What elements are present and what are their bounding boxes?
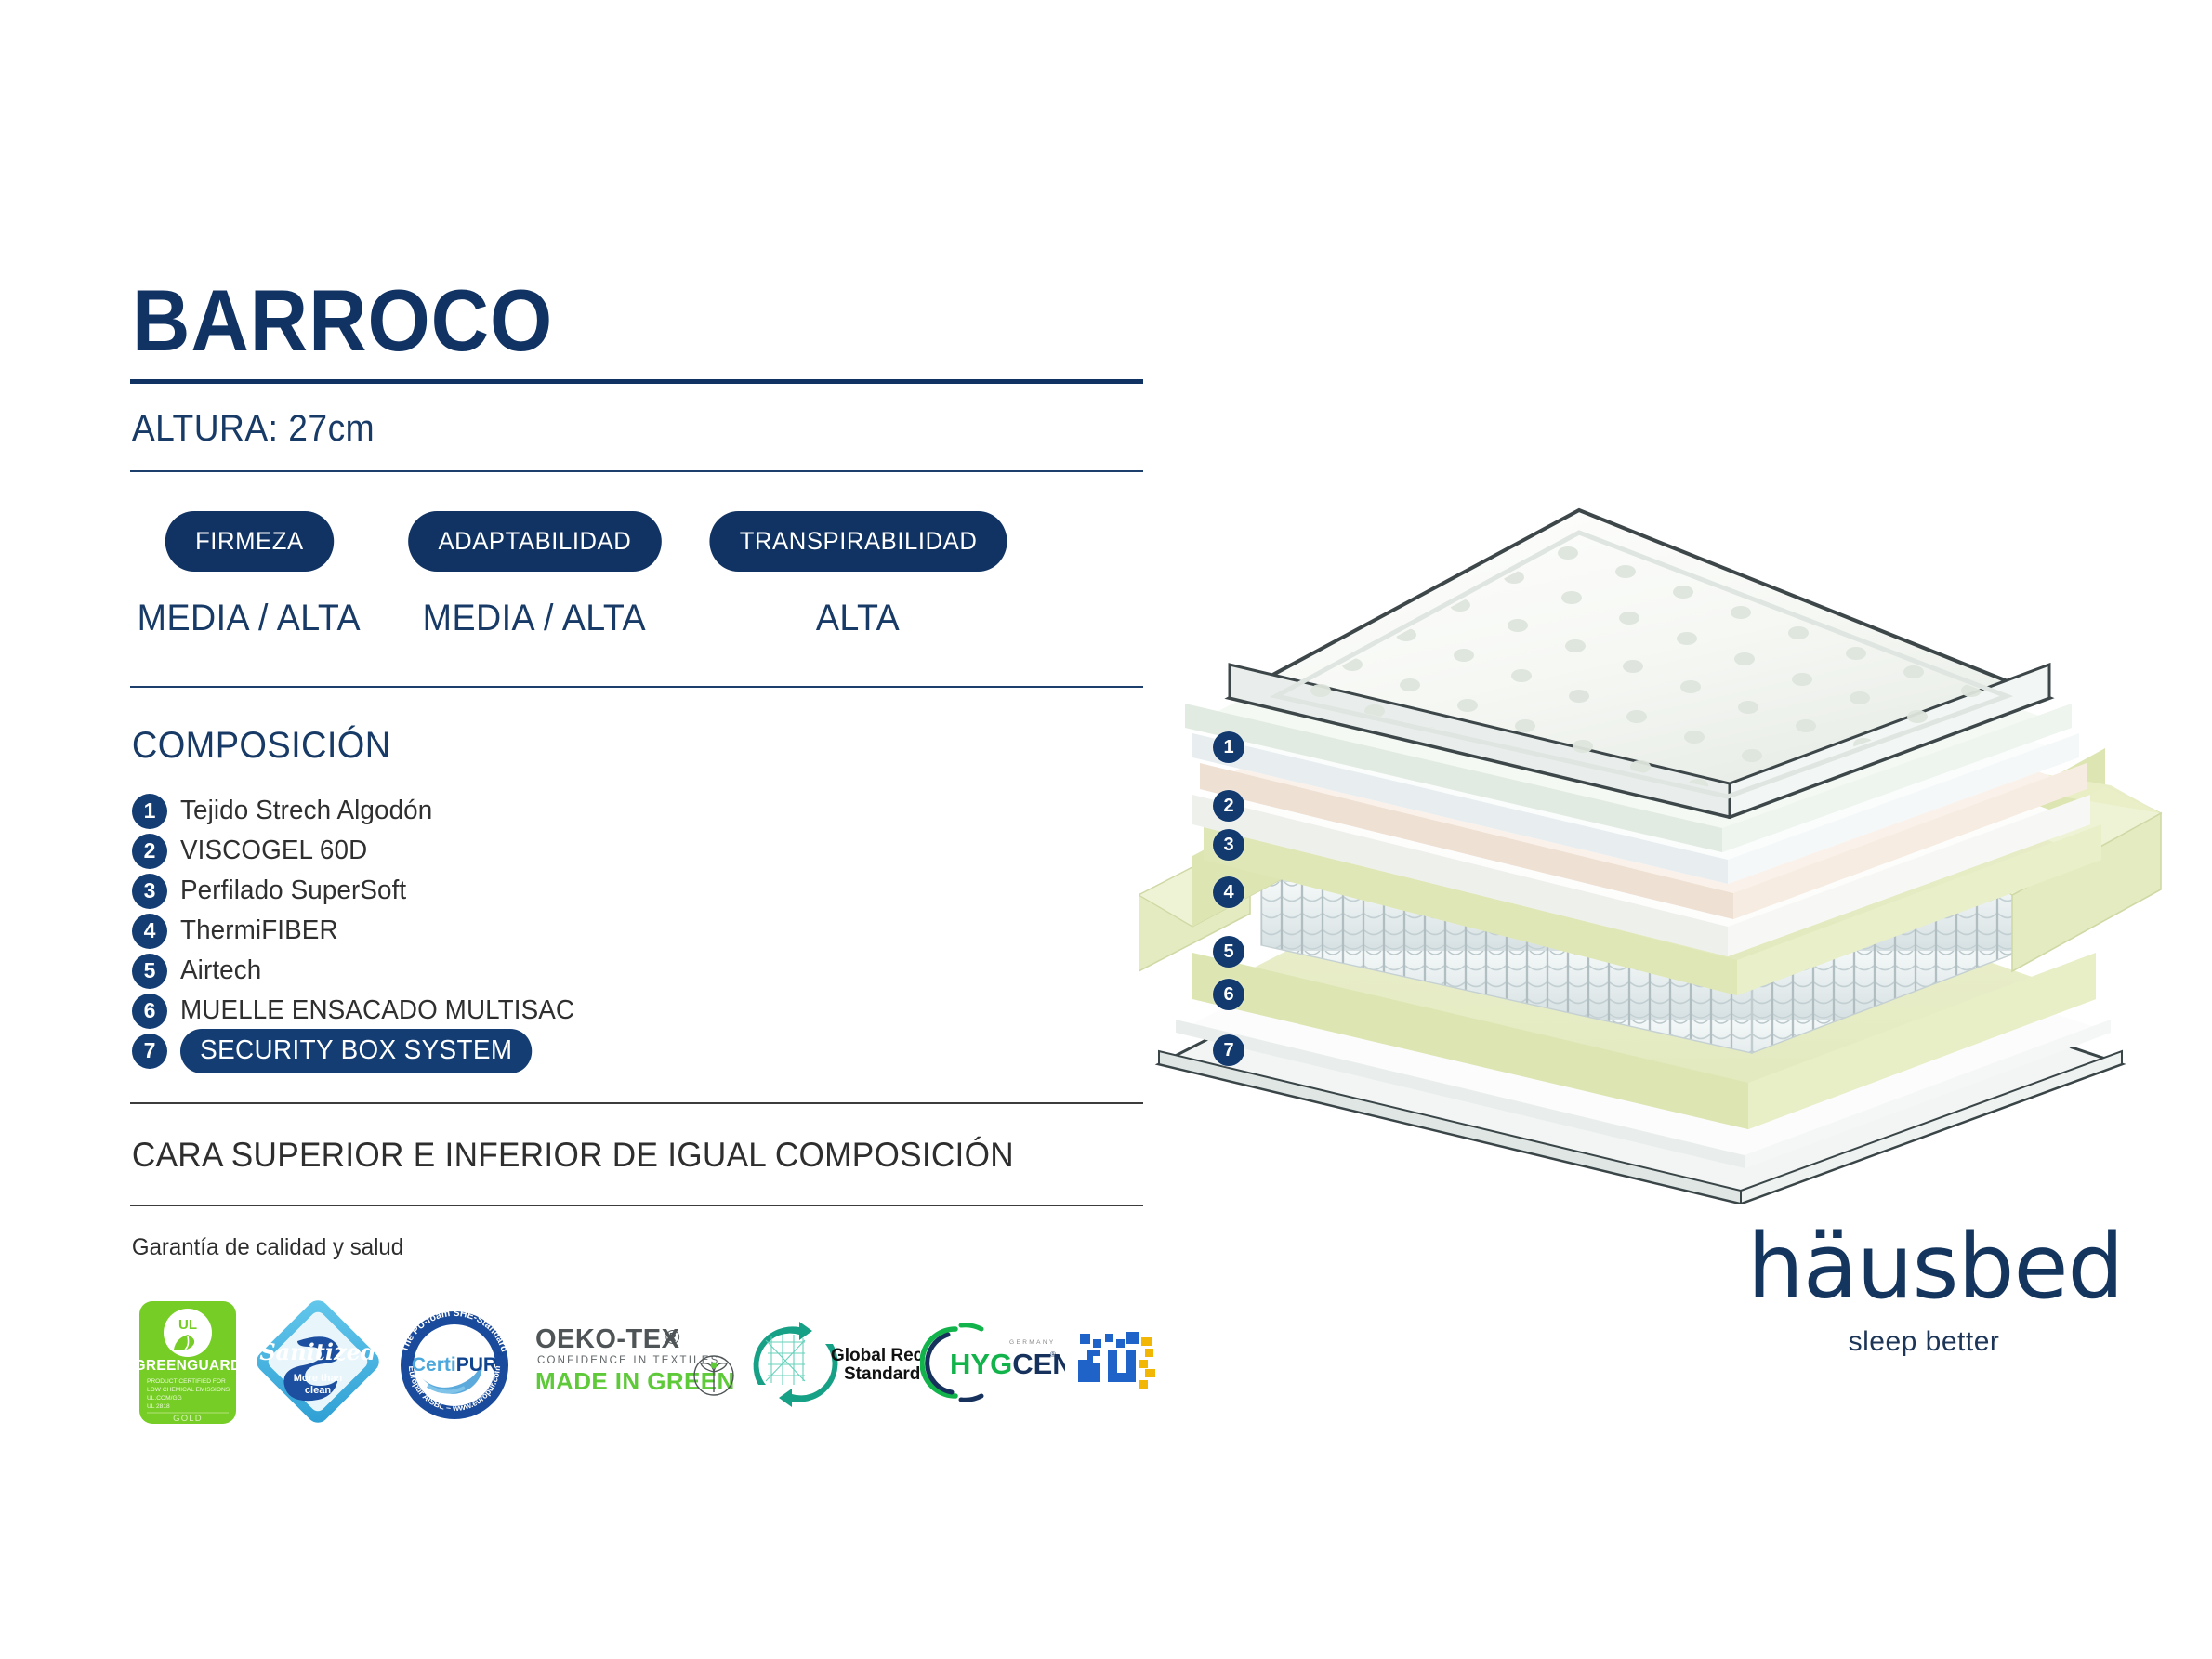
layer-label: VISCOGEL 60D: [180, 836, 367, 866]
layer-label: ThermiFIBER: [180, 915, 338, 946]
list-item: 1 Tejido Strech Algodón: [132, 791, 1143, 831]
svg-text:clean: clean: [305, 1385, 331, 1396]
list-item: 2 VISCOGEL 60D: [132, 831, 1143, 871]
callout-1: 1: [1213, 731, 1244, 763]
spec-left-column: BARROCO ALTURA: 27cm FIRMEZA MEDIA / ALT…: [130, 279, 1143, 1432]
svg-text:PRODUCT CERTIFIED FOR: PRODUCT CERTIFIED FOR: [147, 1378, 226, 1385]
layer-label: Perfilado SuperSoft: [180, 876, 406, 906]
product-height: ALTURA: 27cm: [130, 384, 1073, 470]
svg-text:Global Recycled: Global Recycled: [831, 1346, 920, 1365]
svg-text:UL: UL: [178, 1317, 197, 1333]
layer-number-badge: 1: [132, 794, 167, 829]
exploded-mattress-diagram: 1 2 3 4 5 6 7: [1139, 469, 2170, 1204]
svg-text:®: ®: [1050, 1350, 1056, 1359]
layer-label: Airtech: [180, 955, 261, 986]
svg-text:™: ™: [496, 1351, 504, 1360]
svg-text:®: ®: [665, 1327, 680, 1349]
layer-number-badge: 5: [132, 954, 167, 989]
global-recycled-standard-icon: Global Recycled Standard: [738, 1307, 920, 1418]
callout-5: 5: [1213, 936, 1244, 968]
layer-number-badge: 7: [132, 1034, 167, 1069]
property-adaptabilidad: ADAPTABILIDAD MEDIA / ALTA: [402, 511, 668, 639]
layer-label-highlighted: SECURITY BOX SYSTEM: [180, 1029, 533, 1073]
property-firmeza: FIRMEZA MEDIA / ALTA: [130, 511, 368, 639]
svg-text:MADE IN GREEN: MADE IN GREEN: [535, 1367, 735, 1395]
property-transpirabilidad: TRANSPIRABILIDAD ALTA: [702, 511, 1015, 639]
composition-note: CARA SUPERIOR E INFERIOR DE IGUAL COMPOS…: [130, 1104, 1093, 1205]
warranty-label: Garantía de calidad y salud: [130, 1206, 1102, 1282]
certification-logos: UL GREENGUARD PRODUCT CERTIFIED FOR LOW …: [130, 1282, 1143, 1432]
list-item: 4 ThermiFIBER: [132, 911, 1143, 951]
svg-text:GREENGUARD: GREENGUARD: [135, 1358, 242, 1374]
layer-number-badge: 4: [132, 914, 167, 949]
list-item: 3 Perfilado SuperSoft: [132, 871, 1143, 911]
composition-list: 1 Tejido Strech Algodón 2 VISCOGEL 60D 3…: [130, 791, 1143, 1102]
property-label: TRANSPIRABILIDAD: [709, 511, 1007, 572]
callout-2: 2: [1213, 790, 1244, 822]
callout-7: 7: [1213, 1034, 1244, 1066]
diagram-callouts: 1 2 3 4 5 6 7: [1139, 469, 2170, 1204]
property-label: FIRMEZA: [165, 511, 333, 572]
svg-text:GOLD: GOLD: [173, 1414, 203, 1424]
layer-label: Tejido Strech Algodón: [180, 796, 432, 826]
property-value: ALTA: [816, 598, 900, 639]
layer-label: MUELLE ENSACADO MULTISAC: [180, 995, 574, 1026]
list-item: 7 SECURITY BOX SYSTEM: [132, 1031, 1143, 1071]
list-item: 6 MUELLE ENSACADO MULTISAC: [132, 991, 1143, 1031]
svg-text:OEKO-TEX: OEKO-TEX: [535, 1324, 680, 1354]
eu-pixel-mark-icon: [1065, 1315, 1162, 1410]
svg-text:HYGCEN: HYGCEN: [950, 1348, 1065, 1380]
svg-text:LOW CHEMICAL EMISSIONS: LOW CHEMICAL EMISSIONS: [147, 1387, 230, 1393]
sanitized-icon: Sanitized More than clean: [245, 1297, 385, 1429]
layer-number-badge: 2: [132, 834, 167, 869]
brand-name: häusbed: [1747, 1222, 2100, 1311]
callout-4: 4: [1213, 876, 1244, 908]
svg-text:More than: More than: [294, 1373, 343, 1384]
layer-number-badge: 6: [132, 994, 167, 1029]
svg-text:Sanitized: Sanitized: [259, 1338, 376, 1365]
list-item: 5 Airtech: [132, 951, 1143, 991]
layer-number-badge: 3: [132, 874, 167, 909]
svg-text:Standard: Standard: [844, 1364, 920, 1384]
svg-text:CONFIDENCE IN TEXTILES: CONFIDENCE IN TEXTILES: [537, 1355, 719, 1366]
page-title: BARROCO: [132, 279, 1062, 362]
property-label: ADAPTABILIDAD: [408, 511, 662, 572]
brand-logo: häusbed sleep better: [1747, 1222, 2100, 1358]
hygcen-icon: HYGCEN GERMANY ®: [920, 1310, 1065, 1415]
svg-text:GERMANY: GERMANY: [1009, 1339, 1056, 1346]
brand-tagline: sleep better: [1747, 1326, 2100, 1358]
property-value: MEDIA / ALTA: [423, 598, 646, 639]
property-value: MEDIA / ALTA: [138, 598, 361, 639]
certipur-icon: The PU-foam SHE-Standard Europur AISBL –…: [385, 1293, 524, 1432]
svg-text:UL 2818: UL 2818: [147, 1403, 170, 1410]
oeko-tex-made-in-green-icon: OEKO-TEX ® CONFIDENCE IN TEXTILES MADE I…: [524, 1307, 738, 1418]
property-badges: FIRMEZA MEDIA / ALTA ADAPTABILIDAD MEDIA…: [130, 472, 1143, 686]
greenguard-gold-icon: UL GREENGUARD PRODUCT CERTIFIED FOR LOW …: [130, 1297, 245, 1428]
svg-text:UL.COM/GG: UL.COM/GG: [147, 1395, 182, 1402]
svg-text:CertiPUR: CertiPUR: [412, 1354, 497, 1376]
composition-heading: COMPOSICIÓN: [130, 688, 1093, 791]
product-spec-sheet: BARROCO ALTURA: 27cm FIRMEZA MEDIA / ALT…: [0, 0, 2212, 1659]
callout-6: 6: [1213, 979, 1244, 1010]
callout-3: 3: [1213, 829, 1244, 861]
